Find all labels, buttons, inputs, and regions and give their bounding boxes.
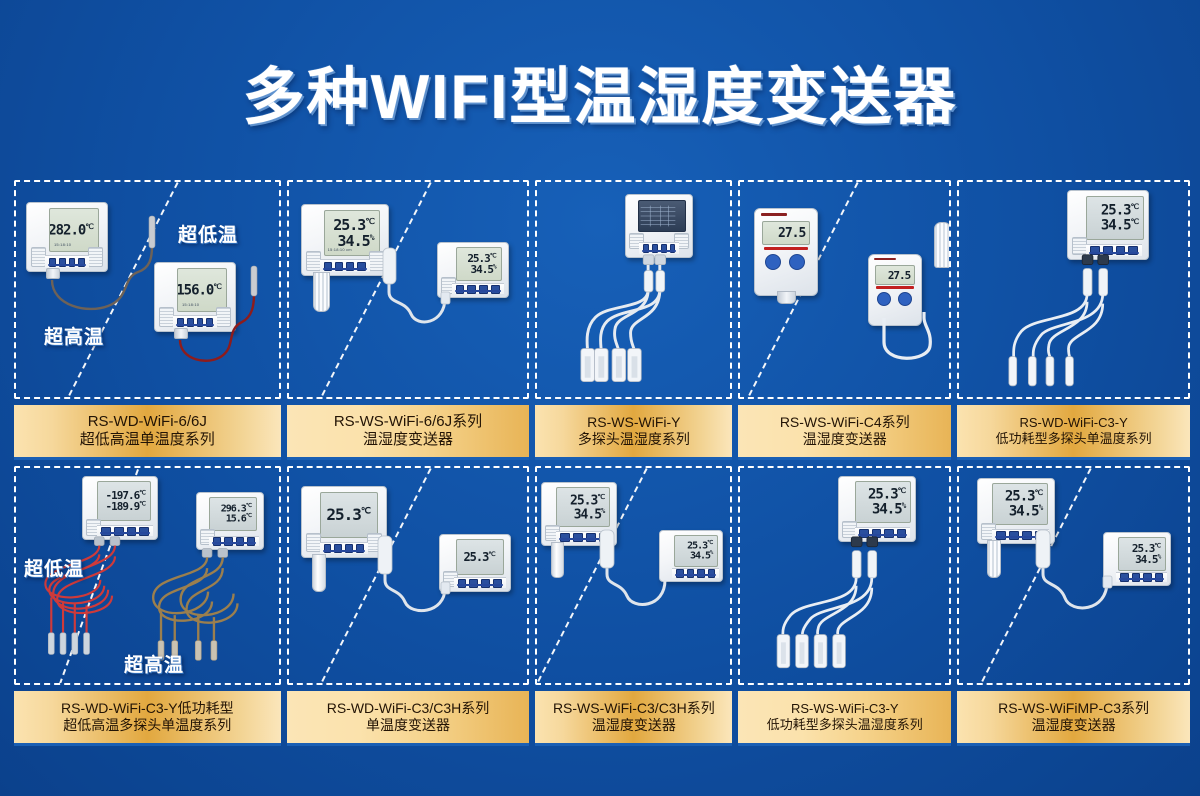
poster-root: 多种WIFI型温湿度变送器 282.0℃ 15:18:10	[0, 0, 1200, 796]
product-image-stage: 25.3℃ 34.5% 15:18:10 cm	[287, 180, 530, 399]
product-series: 单温度变送器	[366, 717, 450, 734]
lcd-reading-1: 282.0℃	[49, 223, 94, 238]
product-cell-rs-ws-wifi-6-6j[interactable]: 25.3℃ 34.5% 15:18:10 cm	[287, 180, 530, 460]
product-series: 低功耗型多探头单温度系列	[996, 431, 1152, 447]
device-single-temp-wall: 25.3℃	[301, 486, 387, 558]
lcd-screen	[638, 200, 686, 232]
device-c3y-multiprobe: 25.3℃ 34.5%	[838, 476, 916, 542]
device-temp-humidity-wall: 25.3℃ 34.5%	[541, 482, 617, 546]
product-series: 多探头温湿度系列	[578, 431, 690, 448]
callout-high-temp: 超高温	[44, 322, 104, 349]
device-low-temp: -156.0℃ 15:18:10	[154, 262, 236, 332]
product-caption: RS-WD-WiFi-C3/C3H系列 单温度变送器	[287, 691, 530, 746]
product-series: 超低高温单温度系列	[80, 431, 215, 449]
callout-ultra-high-temp: 超高温	[124, 650, 184, 677]
device-ultra-low-temp: -197.6℃ -189.9℃	[82, 476, 158, 540]
product-model: RS-WS-WiFi-C4系列	[780, 414, 910, 431]
humidity-probe-icon	[987, 540, 1001, 578]
temperature-probe-icon	[312, 554, 326, 592]
callout-low-temp: 超低温	[178, 220, 238, 247]
lcd-reading: 27.5	[778, 227, 805, 240]
product-cell-rs-ws-wifi-c4[interactable]: 27.5	[738, 180, 951, 460]
product-cell-rs-wd-wifi-c3-c3h[interactable]: 25.3℃ 25.3℃	[287, 466, 530, 746]
product-cell-rs-ws-wifi-c3-c3h[interactable]: 25.3℃ 34.5% 25	[535, 466, 732, 746]
product-caption: RS-WS-WiFi-6/6J系列 温湿度变送器	[287, 405, 530, 460]
product-cell-rs-wd-wifi-c3-y[interactable]: 25.3℃ 34.5℃	[957, 180, 1190, 460]
callout-ultra-low-temp: 超低温	[24, 554, 84, 581]
humidity-probe-icon	[934, 222, 951, 268]
product-caption: RS-WS-WiFi-C4系列 温湿度变送器	[738, 405, 951, 460]
product-model: RS-WS-WiFi-Y	[587, 414, 680, 431]
lcd-reading-2: -156.0℃	[177, 283, 222, 298]
product-caption: RS-WD-WiFi-6/6J 超低高温单温度系列	[14, 405, 281, 460]
product-series: 温湿度变送器	[803, 431, 887, 448]
product-image-stage: 282.0℃ 15:18:10	[14, 180, 281, 399]
device-mp-remote: 25.3℃ 34.5%	[1103, 532, 1171, 586]
product-image-stage: 25.3℃ 34.5% 25	[957, 466, 1190, 685]
product-model: RS-WD-WiFi-C3/C3H系列	[327, 700, 490, 717]
device-remote-temp: 25.3℃	[439, 534, 511, 592]
product-image-stage: 25.3℃ 34.5%	[738, 466, 951, 685]
device-wall-mount: 25.3℃ 34.5% 15:18:10 cm	[301, 204, 389, 276]
product-caption: RS-WD-WiFi-C3-Y低功耗型 超低高温多探头单温度系列	[14, 691, 281, 746]
device-c3y-controller: 25.3℃ 34.5℃	[1067, 190, 1149, 260]
product-model: RS-WS-WiFiMP-C3系列	[998, 700, 1149, 717]
product-image-stage: 27.5	[738, 180, 951, 399]
product-image-stage: -197.6℃ -189.9℃	[14, 466, 281, 685]
control-buttons-icon[interactable]	[763, 253, 809, 271]
humidity-probe-icon	[313, 272, 330, 312]
product-image-stage	[535, 180, 732, 399]
device-ultra-high-temp: 296.3℃ 15.6℃	[196, 492, 264, 550]
product-model: RS-WS-WiFi-C3-Y	[791, 701, 899, 717]
product-caption: RS-WD-WiFi-C3-Y 低功耗型多探头单温度系列	[957, 405, 1190, 460]
device-remote-probe: 25.3℃ 34.5%	[437, 242, 509, 298]
product-caption: RS-WS-WiFi-C3/C3H系列 温湿度变送器	[535, 691, 732, 746]
product-series: 温湿度变送器	[363, 431, 453, 449]
device-c4-wall: 27.5	[754, 208, 818, 296]
product-model: RS-WD-WiFi-C3-Y	[1019, 415, 1127, 431]
product-grid: 282.0℃ 15:18:10	[14, 180, 1190, 752]
product-series: 温湿度变送器	[1032, 717, 1116, 734]
product-model: RS-WD-WiFi-C3-Y低功耗型	[61, 700, 234, 717]
product-series: 低功耗型多探头温湿度系列	[767, 717, 923, 733]
product-image-stage: 25.3℃ 34.5% 25	[535, 466, 732, 685]
lcd-reading-2: -189.9℃	[105, 501, 146, 512]
device-multiprobe-controller	[625, 194, 693, 258]
product-image-stage: 25.3℃ 34.5℃	[957, 180, 1190, 399]
product-caption: RS-WS-WiFi-Y 多探头温湿度系列	[535, 405, 732, 460]
product-model: RS-WS-WiFi-6/6J系列	[334, 413, 482, 431]
product-series: 温湿度变送器	[592, 717, 676, 734]
device-high-temp: 282.0℃ 15:18:10	[26, 202, 108, 272]
product-image-stage: 25.3℃ 25.3℃	[287, 466, 530, 685]
device-mp-wall: 25.3℃ 34.5%	[977, 478, 1055, 544]
product-row-2: -197.6℃ -189.9℃	[14, 466, 1190, 746]
product-cell-rs-wd-wifi-6-6j[interactable]: 282.0℃ 15:18:10	[14, 180, 281, 460]
product-cell-rs-ws-wifi-c3-y[interactable]: 25.3℃ 34.5%	[738, 466, 951, 746]
device-c4-remote: 27.5	[868, 254, 922, 326]
product-caption: RS-WS-WiFi-C3-Y 低功耗型多探头温湿度系列	[738, 691, 951, 746]
product-series: 超低高温多探头单温度系列	[63, 717, 231, 734]
product-model: RS-WD-WiFi-6/6J	[88, 413, 207, 431]
page-title: 多种WIFI型温湿度变送器	[243, 46, 958, 136]
device-remote-temp-humidity: 25.3℃ 34.5%	[659, 530, 723, 582]
product-row-1: 282.0℃ 15:18:10	[14, 180, 1190, 460]
lcd-temp: 25.3℃	[333, 217, 374, 233]
product-caption: RS-WS-WiFiMP-C3系列 温湿度变送器	[957, 691, 1190, 746]
product-cell-rs-ws-wifimp-c3[interactable]: 25.3℃ 34.5% 25	[957, 466, 1190, 746]
product-cell-rs-wd-wifi-c3-y-lowpower[interactable]: -197.6℃ -189.9℃	[14, 466, 281, 746]
product-model: RS-WS-WiFi-C3/C3H系列	[553, 700, 715, 717]
product-cell-rs-ws-wifi-y[interactable]: RS-WS-WiFi-Y 多探头温湿度系列	[535, 180, 732, 460]
temperature-probe-icon	[551, 542, 564, 578]
poster-title-wrap: 多种WIFI型温湿度变送器	[0, 46, 1200, 136]
